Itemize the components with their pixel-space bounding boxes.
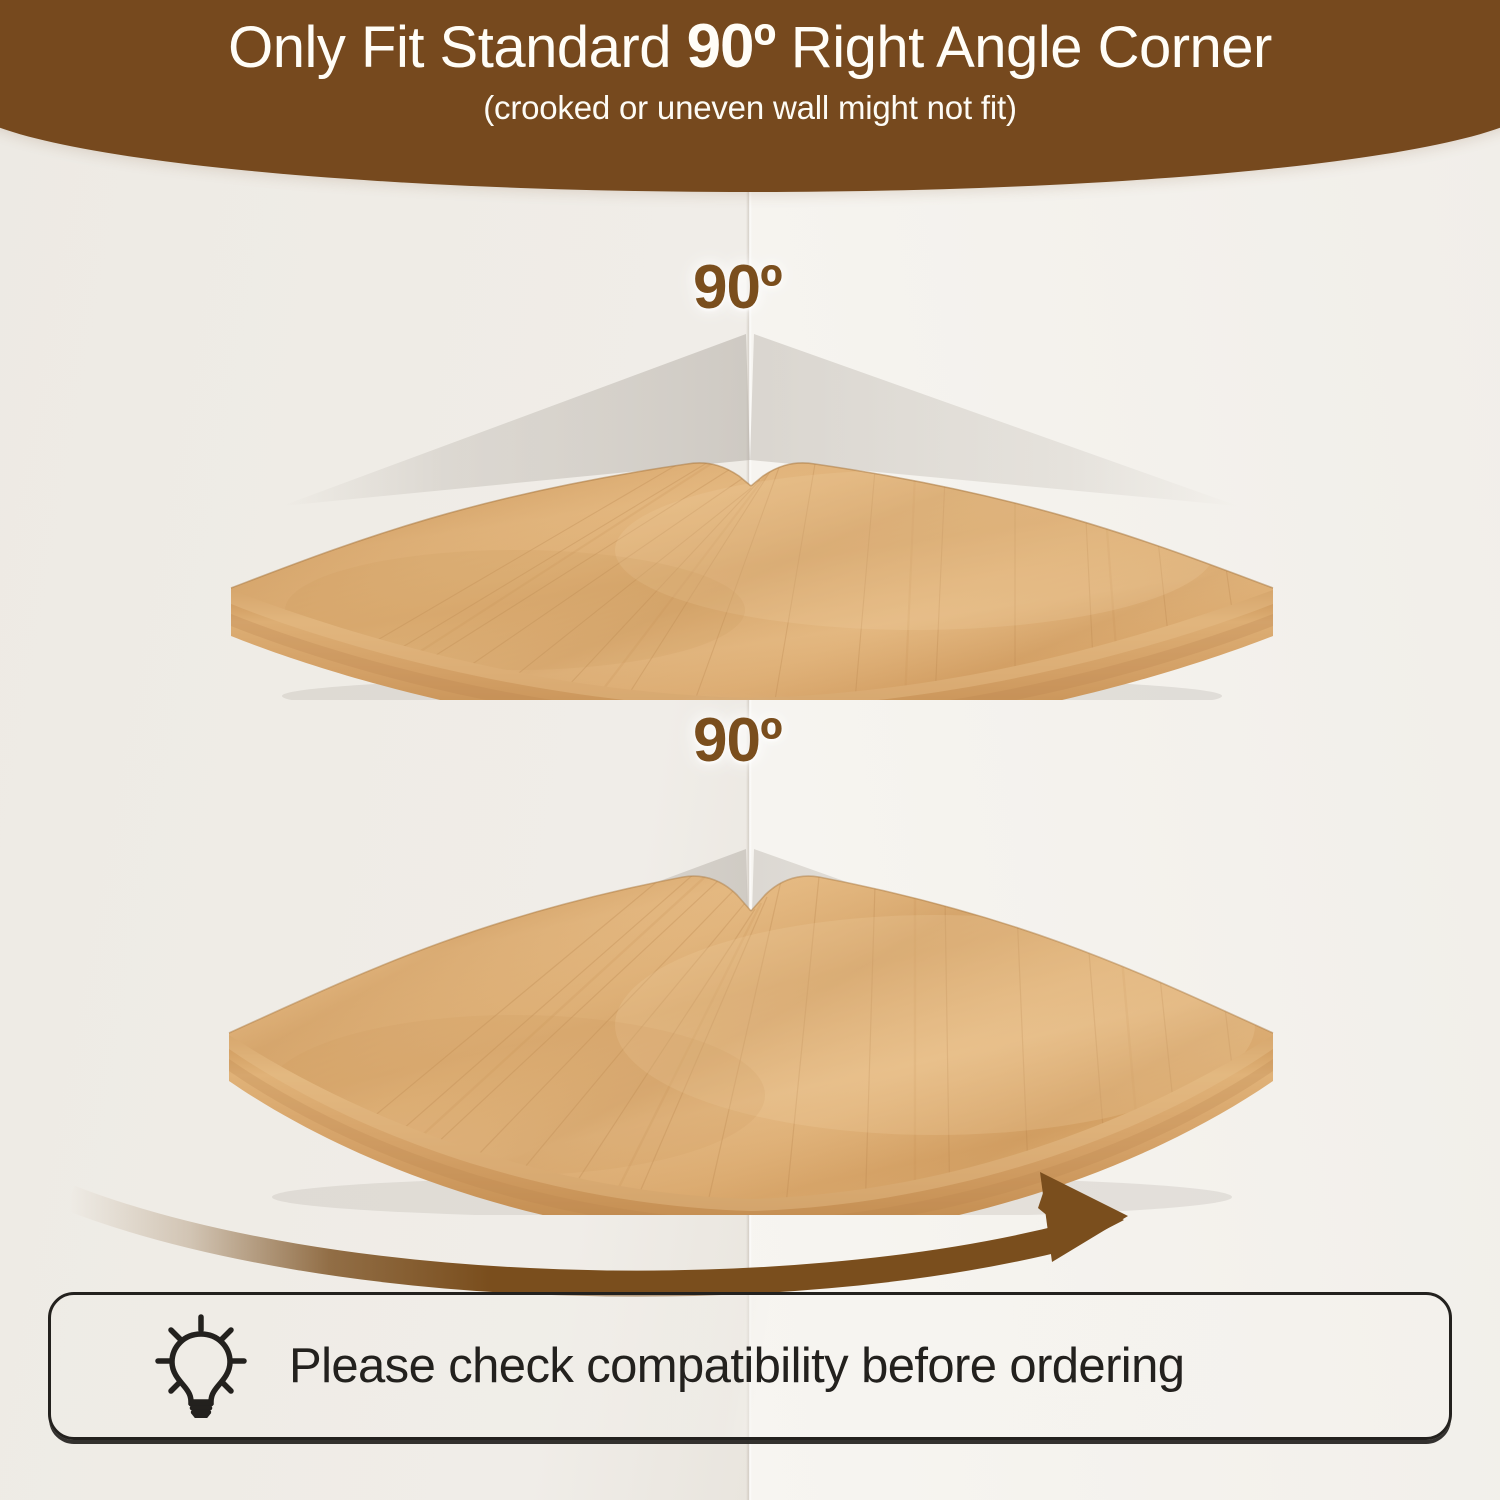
- compatibility-callout: Please check compatibility before orderi…: [48, 1292, 1452, 1440]
- upper-corner-shelf: [215, 400, 1290, 700]
- callout-text: Please check compatibility before orderi…: [289, 1338, 1184, 1394]
- banner-title: Only Fit Standard 90º Right Angle Corner: [0, 14, 1500, 81]
- angle-label-top: 90º: [693, 252, 782, 323]
- banner-subtitle: (crooked or uneven wall might not fit): [0, 89, 1500, 127]
- lightbulb-icon: [141, 1314, 261, 1418]
- infographic-canvas: 90º 90º: [0, 0, 1500, 1500]
- header-banner: Only Fit Standard 90º Right Angle Corner…: [0, 0, 1500, 192]
- banner-title-part2: Right Angle Corner: [775, 15, 1272, 80]
- banner-title-emphasis: 90º: [687, 12, 776, 81]
- angle-label-bottom: 90º: [693, 705, 782, 776]
- banner-title-part1: Only Fit Standard: [228, 15, 686, 80]
- rotation-arrow: [0, 1150, 1500, 1310]
